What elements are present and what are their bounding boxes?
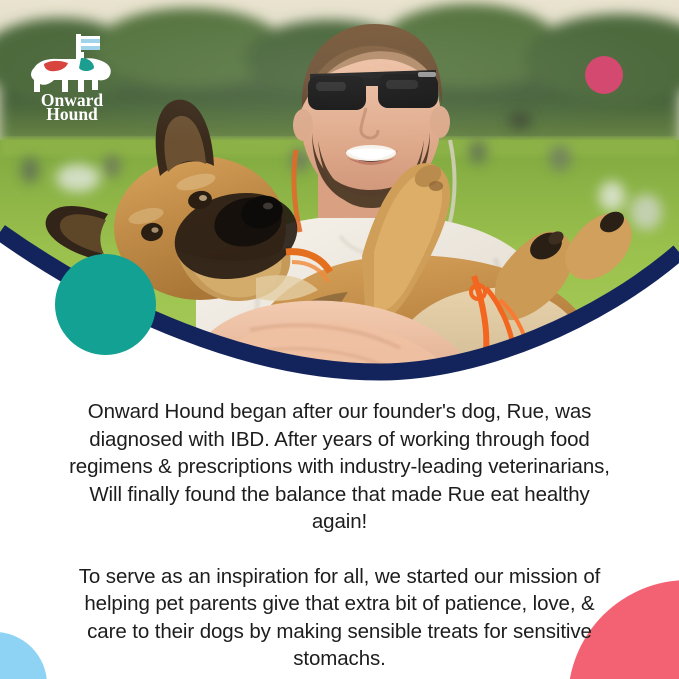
pink-dot-decoration (585, 56, 623, 94)
story-paragraph-1: Onward Hound began after our founder's d… (62, 398, 617, 536)
logo-text-line-2: Hound (46, 104, 98, 120)
onward-hound-logo: Onward Hound (24, 28, 120, 120)
logo-svg: Onward Hound (24, 28, 120, 120)
dog-and-h-monogram-icon (31, 34, 111, 92)
teal-dot-decoration (55, 254, 156, 355)
story-paragraph-2: To serve as an inspiration for all, we s… (62, 563, 617, 673)
promo-card: Onward Hound Onward Hound began after ou… (0, 0, 679, 679)
brand-story-copy: Onward Hound began after our founder's d… (0, 398, 679, 673)
